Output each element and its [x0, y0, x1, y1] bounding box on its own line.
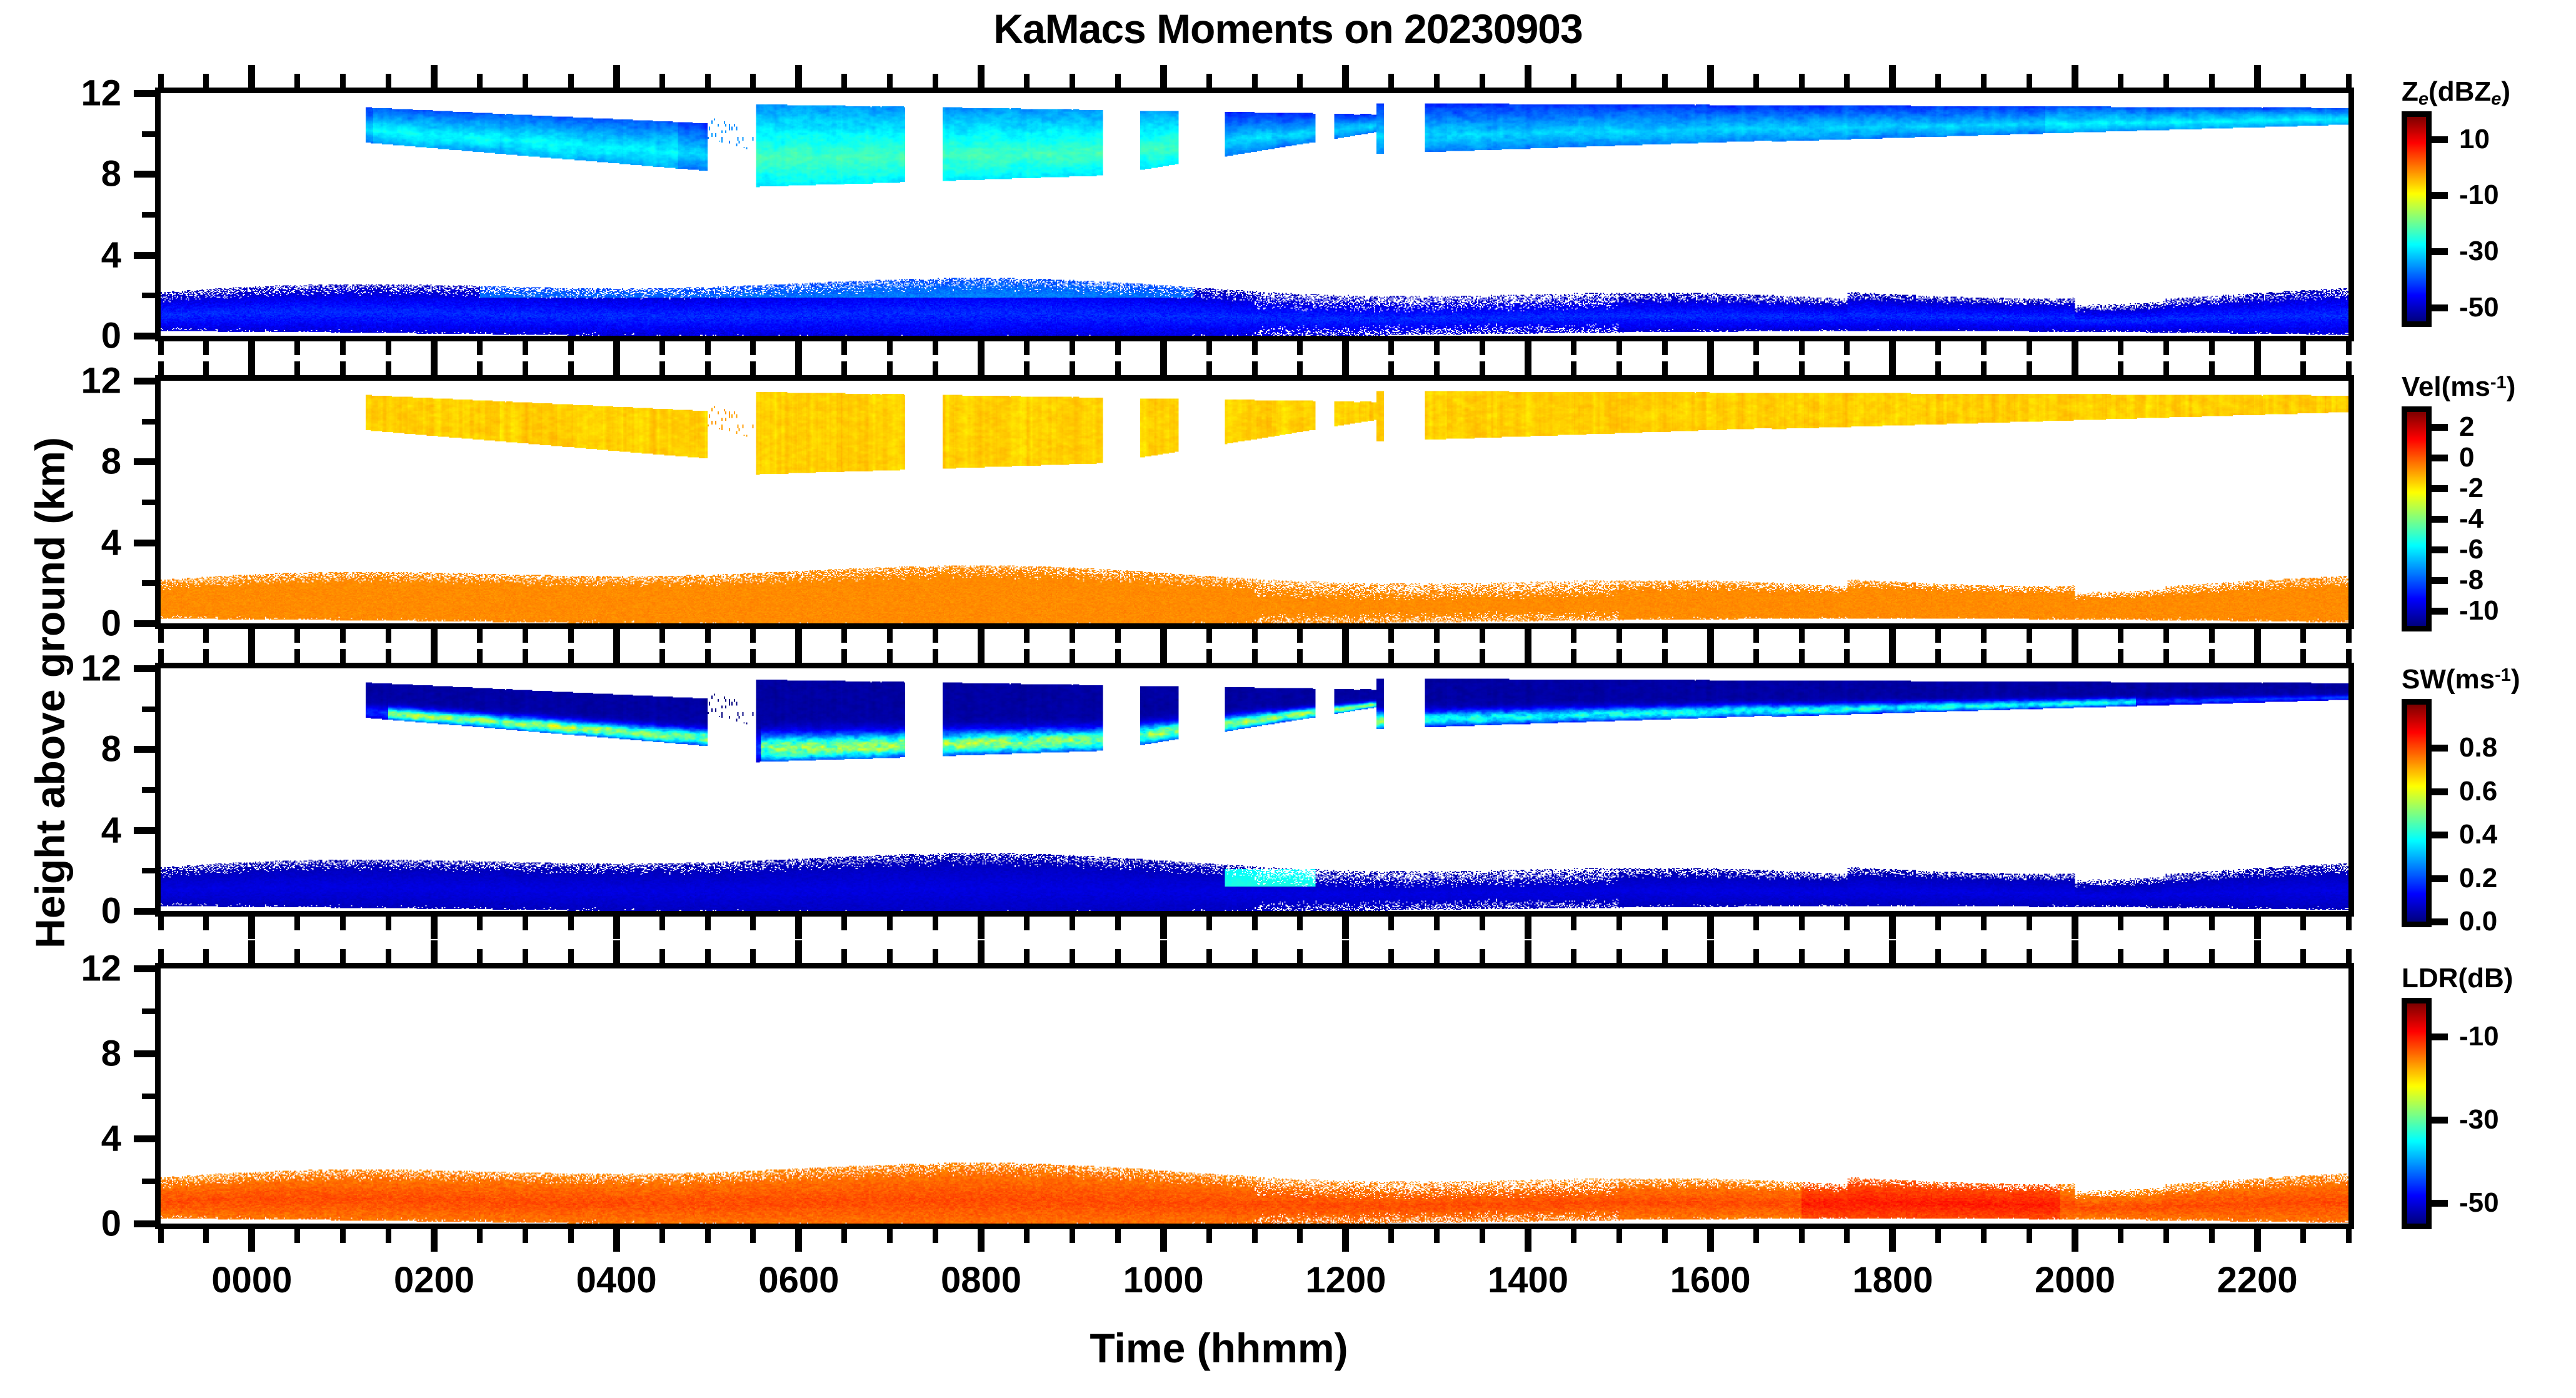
- x-tick-label: 1000: [1123, 1259, 1204, 1301]
- y-tick-minor: [142, 293, 155, 298]
- x-tick-major: [2254, 640, 2261, 663]
- x-tick-minor: [386, 649, 391, 663]
- x-tick-minor: [568, 649, 574, 663]
- x-tick-label: 1200: [1305, 1259, 1386, 1301]
- x-tick-minor: [2027, 949, 2032, 963]
- x-tick-minor: [750, 74, 756, 88]
- x-tick-minor: [1252, 629, 1258, 643]
- y-tick-major: [134, 1135, 155, 1142]
- colorbar-tick: [2432, 788, 2448, 795]
- colorbar-tick: [2432, 1033, 2448, 1040]
- x-tick-minor: [1115, 649, 1121, 663]
- x-tick-minor: [1115, 341, 1121, 355]
- x-tick-minor: [340, 1229, 346, 1243]
- x-tick-minor: [1434, 1229, 1440, 1243]
- x-tick-minor: [1753, 629, 1759, 643]
- heatmap-canvas-ldr: [161, 968, 2348, 1224]
- x-tick-minor: [568, 341, 574, 355]
- x-tick-minor: [1024, 917, 1030, 930]
- colorbar-tick-label: 0.0: [2459, 906, 2497, 937]
- x-tick-minor: [1571, 917, 1576, 930]
- y-tick-minor: [142, 580, 155, 586]
- x-tick-major: [1525, 353, 1531, 375]
- x-tick-minor: [2209, 629, 2215, 643]
- colorbar-tick: [2432, 1200, 2448, 1207]
- x-tick-minor: [1799, 649, 1805, 663]
- x-tick-minor: [1480, 917, 1485, 930]
- y-tick-minor: [142, 212, 155, 218]
- x-tick-minor: [203, 629, 209, 643]
- x-tick-major: [431, 917, 438, 939]
- x-tick-minor: [1206, 74, 1212, 88]
- x-tick-major: [2072, 917, 2078, 939]
- x-tick-minor: [1753, 917, 1759, 930]
- x-tick-minor: [1616, 341, 1622, 355]
- x-tick-minor: [477, 649, 483, 663]
- x-tick-minor: [1024, 1229, 1030, 1243]
- x-tick-minor: [1115, 74, 1121, 88]
- x-tick-major: [431, 940, 438, 963]
- x-tick-minor: [1981, 917, 1987, 930]
- x-tick-minor: [1206, 649, 1212, 663]
- x-tick-major: [2254, 917, 2261, 939]
- x-tick-minor: [2300, 74, 2306, 88]
- x-tick-minor: [203, 649, 209, 663]
- x-tick-minor: [1115, 629, 1121, 643]
- colorbar-tick-label: -10: [2459, 595, 2499, 626]
- x-tick-major: [1889, 940, 1896, 963]
- x-tick-major: [2072, 940, 2078, 963]
- y-tick-major: [134, 746, 155, 753]
- y-tick-major: [134, 90, 155, 97]
- x-tick-major: [1707, 1229, 1714, 1252]
- x-tick-minor: [2300, 949, 2306, 963]
- y-tick-label: 12: [5, 648, 121, 690]
- x-tick-major: [2072, 640, 2078, 663]
- x-tick-minor: [887, 361, 893, 375]
- colorbar-gradient: [2407, 117, 2426, 321]
- x-tick-minor: [2118, 341, 2123, 355]
- y-tick-minor: [142, 868, 155, 873]
- x-tick-minor: [158, 341, 164, 355]
- x-tick-minor: [1388, 917, 1394, 930]
- x-tick-minor: [1844, 949, 1850, 963]
- colorbar-tick-label: -50: [2459, 1187, 2499, 1219]
- x-tick-minor: [2163, 949, 2169, 963]
- x-tick-minor: [1434, 74, 1440, 88]
- x-tick-minor: [2163, 917, 2169, 930]
- x-tick-minor: [2209, 74, 2215, 88]
- x-tick-minor: [1070, 917, 1075, 930]
- x-tick-major: [1342, 917, 1349, 939]
- x-tick-minor: [2163, 74, 2169, 88]
- colorbar-tick-label: -50: [2459, 292, 2499, 323]
- x-tick-minor: [1662, 341, 1668, 355]
- x-tick-minor: [1662, 949, 1668, 963]
- x-tick-minor: [158, 917, 164, 930]
- x-tick-minor: [933, 1229, 938, 1243]
- x-tick-minor: [1981, 361, 1987, 375]
- colorbar-tick-label: 0.2: [2459, 863, 2497, 894]
- x-tick-minor: [1571, 649, 1576, 663]
- x-tick-major: [1342, 353, 1349, 375]
- x-tick-major: [1525, 65, 1531, 88]
- x-tick-minor: [2300, 629, 2306, 643]
- x-axis-title: Time (hhmm): [0, 1324, 2438, 1372]
- x-tick-minor: [933, 361, 938, 375]
- x-tick-major: [795, 940, 802, 963]
- x-tick-minor: [1480, 629, 1485, 643]
- x-tick-minor: [2300, 341, 2306, 355]
- x-tick-minor: [1935, 1229, 1941, 1243]
- x-tick-minor: [2346, 1229, 2352, 1243]
- x-tick-major: [1160, 640, 1167, 663]
- x-tick-major: [1525, 940, 1531, 963]
- x-tick-minor: [1981, 949, 1987, 963]
- x-tick-minor: [1388, 74, 1394, 88]
- x-tick-minor: [1070, 629, 1075, 643]
- x-tick-minor: [386, 949, 391, 963]
- colorbar-tick-label: -2: [2459, 473, 2483, 504]
- y-tick-label: 8: [5, 728, 121, 770]
- x-tick-minor: [1024, 74, 1030, 88]
- x-tick-major: [2254, 353, 2261, 375]
- x-tick-minor: [1252, 74, 1258, 88]
- colorbar-tick: [2432, 875, 2448, 882]
- x-tick-minor: [1571, 629, 1576, 643]
- x-tick-minor: [659, 1229, 665, 1243]
- x-tick-minor: [158, 629, 164, 643]
- y-tick-minor: [142, 707, 155, 712]
- x-tick-minor: [1662, 629, 1668, 643]
- x-tick-minor: [1662, 1229, 1668, 1243]
- x-tick-minor: [568, 917, 574, 930]
- x-tick-minor: [2209, 949, 2215, 963]
- x-tick-minor: [1252, 917, 1258, 930]
- x-tick-minor: [750, 341, 756, 355]
- x-tick-minor: [1799, 341, 1805, 355]
- x-tick-minor: [340, 341, 346, 355]
- x-tick-major: [1525, 640, 1531, 663]
- x-tick-major: [613, 1229, 620, 1252]
- x-tick-minor: [2027, 74, 2032, 88]
- colorbar-tick: [2432, 546, 2448, 553]
- colorbar-tick-label: -30: [2459, 236, 2499, 267]
- colorbar-tick-label: -4: [2459, 503, 2483, 535]
- heatmap-canvas-ze: [161, 93, 2348, 336]
- x-tick-minor: [523, 361, 528, 375]
- colorbar-vel: [2402, 406, 2432, 631]
- x-tick-minor: [705, 341, 711, 355]
- x-tick-minor: [158, 649, 164, 663]
- colorbar-tick: [2432, 608, 2448, 615]
- x-tick-major: [1160, 65, 1167, 88]
- x-tick-minor: [2346, 629, 2352, 643]
- x-tick-label: 2200: [2217, 1259, 2298, 1301]
- x-tick-minor: [933, 949, 938, 963]
- x-tick-minor: [2118, 949, 2123, 963]
- x-tick-minor: [340, 629, 346, 643]
- x-tick-minor: [1297, 949, 1303, 963]
- x-tick-minor: [203, 341, 209, 355]
- x-tick-minor: [2118, 361, 2123, 375]
- colorbar-tick-label: 0.8: [2459, 732, 2497, 763]
- x-tick-minor: [2163, 1229, 2169, 1243]
- colorbar-tick-label: -8: [2459, 565, 2483, 596]
- colorbar-tick: [2432, 1117, 2448, 1124]
- x-tick-minor: [1935, 629, 1941, 643]
- x-tick-minor: [294, 361, 300, 375]
- x-tick-minor: [2027, 917, 2032, 930]
- x-tick-major: [978, 353, 985, 375]
- x-tick-minor: [523, 949, 528, 963]
- x-tick-major: [1525, 917, 1531, 939]
- x-tick-minor: [477, 917, 483, 930]
- x-tick-minor: [1388, 361, 1394, 375]
- x-tick-minor: [2118, 1229, 2123, 1243]
- x-tick-minor: [750, 1229, 756, 1243]
- y-tick-minor: [142, 787, 155, 793]
- x-tick-major: [248, 1229, 255, 1252]
- x-tick-minor: [887, 341, 893, 355]
- colorbar-title: Ze(dBZe): [2402, 76, 2510, 109]
- x-tick-minor: [1844, 649, 1850, 663]
- x-tick-minor: [294, 629, 300, 643]
- x-tick-minor: [659, 949, 665, 963]
- x-tick-minor: [750, 917, 756, 930]
- x-tick-minor: [1388, 1229, 1394, 1243]
- x-tick-minor: [1753, 649, 1759, 663]
- x-tick-major: [1889, 353, 1896, 375]
- x-tick-minor: [659, 361, 665, 375]
- x-tick-minor: [1252, 361, 1258, 375]
- colorbar-tick: [2432, 455, 2448, 461]
- x-tick-minor: [1480, 949, 1485, 963]
- x-tick-minor: [1571, 361, 1576, 375]
- x-tick-minor: [2118, 649, 2123, 663]
- x-tick-minor: [1070, 361, 1075, 375]
- x-tick-minor: [705, 949, 711, 963]
- x-tick-minor: [1844, 917, 1850, 930]
- x-tick-minor: [1844, 341, 1850, 355]
- colorbar-tick-label: 0.4: [2459, 819, 2497, 850]
- x-tick-minor: [1662, 649, 1668, 663]
- x-tick-minor: [2209, 1229, 2215, 1243]
- x-tick-minor: [659, 341, 665, 355]
- x-tick-minor: [1799, 949, 1805, 963]
- colorbar-tick: [2432, 516, 2448, 523]
- x-tick-minor: [887, 629, 893, 643]
- x-tick-minor: [1206, 949, 1212, 963]
- heatmap-canvas-sw: [161, 668, 2348, 911]
- x-tick-major: [1525, 1229, 1531, 1252]
- x-tick-major: [978, 917, 985, 939]
- x-tick-minor: [1070, 341, 1075, 355]
- y-tick-major: [134, 1220, 155, 1227]
- x-tick-major: [431, 353, 438, 375]
- x-tick-major: [431, 65, 438, 88]
- y-tick-label: 4: [5, 521, 121, 563]
- x-tick-minor: [1616, 629, 1622, 643]
- colorbar-tick-label: -6: [2459, 534, 2483, 565]
- colorbar-tick: [2432, 304, 2448, 311]
- x-tick-minor: [2209, 917, 2215, 930]
- x-tick-minor: [1981, 341, 1987, 355]
- x-tick-minor: [1480, 1229, 1485, 1243]
- x-tick-minor: [1070, 1229, 1075, 1243]
- x-tick-minor: [1799, 74, 1805, 88]
- x-tick-minor: [2027, 1229, 2032, 1243]
- x-tick-major: [978, 940, 985, 963]
- x-tick-major: [248, 940, 255, 963]
- x-tick-minor: [158, 74, 164, 88]
- x-tick-major: [1342, 940, 1349, 963]
- x-tick-major: [1889, 917, 1896, 939]
- x-tick-minor: [386, 361, 391, 375]
- plot-panel-ze: [155, 88, 2354, 341]
- x-tick-minor: [1935, 74, 1941, 88]
- x-tick-minor: [1388, 949, 1394, 963]
- colorbar-tick-label: -10: [2459, 179, 2499, 211]
- x-tick-label: 1400: [1488, 1259, 1568, 1301]
- x-tick-minor: [1571, 1229, 1576, 1243]
- x-tick-minor: [2300, 361, 2306, 375]
- x-tick-minor: [887, 74, 893, 88]
- x-tick-minor: [386, 917, 391, 930]
- x-tick-minor: [1753, 1229, 1759, 1243]
- y-tick-major: [134, 665, 155, 672]
- y-tick-major: [134, 965, 155, 972]
- x-tick-minor: [1799, 1229, 1805, 1243]
- x-tick-major: [248, 640, 255, 663]
- x-tick-minor: [2300, 917, 2306, 930]
- y-tick-minor: [142, 131, 155, 137]
- x-tick-minor: [750, 361, 756, 375]
- x-tick-minor: [2118, 629, 2123, 643]
- x-tick-major: [431, 640, 438, 663]
- x-tick-minor: [1935, 949, 1941, 963]
- x-tick-minor: [158, 361, 164, 375]
- x-tick-minor: [1206, 1229, 1212, 1243]
- x-tick-minor: [1024, 361, 1030, 375]
- plot-panel-sw: [155, 663, 2354, 917]
- x-tick-major: [248, 65, 255, 88]
- x-tick-major: [1160, 917, 1167, 939]
- y-tick-major: [134, 827, 155, 834]
- x-tick-minor: [887, 649, 893, 663]
- x-tick-major: [1342, 1229, 1349, 1252]
- x-tick-minor: [887, 1229, 893, 1243]
- x-tick-minor: [933, 74, 938, 88]
- x-tick-major: [1707, 940, 1714, 963]
- colorbar-tick: [2432, 832, 2448, 838]
- x-tick-minor: [340, 949, 346, 963]
- x-tick-minor: [1935, 361, 1941, 375]
- x-tick-minor: [1024, 649, 1030, 663]
- x-tick-minor: [2346, 917, 2352, 930]
- colorbar-tick: [2432, 192, 2448, 199]
- x-tick-minor: [1799, 917, 1805, 930]
- x-tick-minor: [705, 649, 711, 663]
- x-tick-minor: [203, 74, 209, 88]
- x-tick-minor: [659, 917, 665, 930]
- colorbar-tick: [2432, 248, 2448, 255]
- x-tick-minor: [568, 629, 574, 643]
- x-tick-minor: [1434, 341, 1440, 355]
- x-tick-minor: [1434, 649, 1440, 663]
- x-tick-minor: [523, 1229, 528, 1243]
- x-tick-minor: [386, 341, 391, 355]
- x-tick-major: [1160, 353, 1167, 375]
- y-tick-label: 0: [5, 315, 121, 357]
- colorbar-tick-label: 10: [2459, 124, 2490, 155]
- x-tick-minor: [1297, 361, 1303, 375]
- radar-moments-figure: KaMacs Moments on 20230903 Height above …: [0, 0, 2576, 1398]
- x-tick-major: [795, 917, 802, 939]
- x-tick-minor: [477, 949, 483, 963]
- x-tick-minor: [2300, 649, 2306, 663]
- x-tick-minor: [841, 917, 847, 930]
- x-tick-minor: [2346, 74, 2352, 88]
- plot-panel-ldr: [155, 963, 2354, 1229]
- x-tick-minor: [2209, 361, 2215, 375]
- x-tick-minor: [2163, 341, 2169, 355]
- x-tick-minor: [1024, 629, 1030, 643]
- x-tick-minor: [1662, 917, 1668, 930]
- x-tick-minor: [887, 917, 893, 930]
- x-tick-label: 0200: [394, 1259, 474, 1301]
- x-tick-minor: [158, 1229, 164, 1243]
- x-tick-minor: [705, 361, 711, 375]
- x-tick-major: [1342, 640, 1349, 663]
- x-tick-minor: [1753, 949, 1759, 963]
- x-tick-minor: [1434, 629, 1440, 643]
- x-tick-minor: [1206, 361, 1212, 375]
- x-tick-minor: [1935, 649, 1941, 663]
- x-tick-minor: [1799, 629, 1805, 643]
- x-tick-major: [1889, 1229, 1896, 1252]
- x-tick-minor: [2118, 917, 2123, 930]
- x-tick-minor: [386, 1229, 391, 1243]
- x-tick-minor: [1662, 74, 1668, 88]
- x-tick-minor: [568, 1229, 574, 1243]
- x-tick-major: [2072, 1229, 2078, 1252]
- x-tick-major: [248, 353, 255, 375]
- x-tick-minor: [1981, 74, 1987, 88]
- x-tick-minor: [523, 649, 528, 663]
- x-tick-major: [795, 640, 802, 663]
- x-tick-minor: [2209, 341, 2215, 355]
- x-tick-major: [978, 1229, 985, 1252]
- x-tick-minor: [1571, 341, 1576, 355]
- x-tick-minor: [1115, 1229, 1121, 1243]
- x-tick-minor: [294, 949, 300, 963]
- x-tick-minor: [203, 917, 209, 930]
- x-tick-minor: [523, 917, 528, 930]
- x-tick-minor: [659, 629, 665, 643]
- x-tick-minor: [1844, 361, 1850, 375]
- x-tick-minor: [1252, 341, 1258, 355]
- x-tick-minor: [659, 649, 665, 663]
- x-tick-minor: [705, 629, 711, 643]
- x-tick-minor: [158, 949, 164, 963]
- x-tick-minor: [340, 74, 346, 88]
- x-tick-minor: [1206, 917, 1212, 930]
- x-tick-minor: [1434, 917, 1440, 930]
- x-tick-minor: [1616, 74, 1622, 88]
- x-tick-major: [978, 640, 985, 663]
- colorbar-tick-label: -10: [2459, 1021, 2499, 1052]
